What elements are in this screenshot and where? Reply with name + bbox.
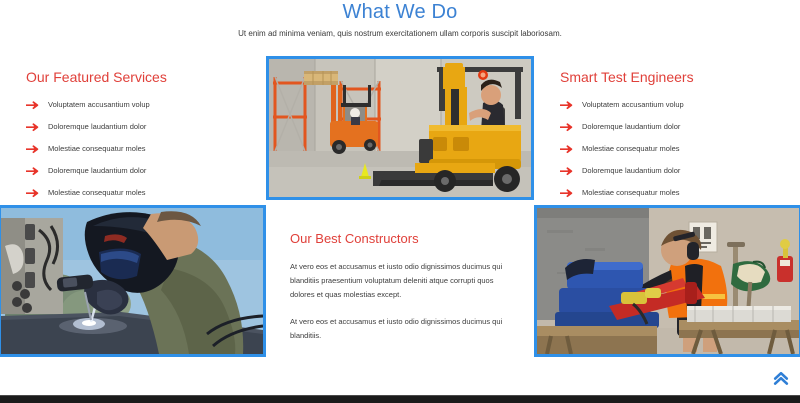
arrow-right-icon	[26, 188, 40, 198]
list-item-label: Molestiae consequatur moles	[48, 144, 146, 153]
list-item-label: Molestiae consequatur moles	[582, 144, 680, 153]
page-root: What We Do Ut enim ad minima veniam, qui…	[0, 0, 800, 403]
footer-bar	[0, 395, 800, 403]
list-item-label: Doloremque laudantium dolor	[582, 166, 680, 175]
list-item[interactable]: Molestiae consequatur moles	[26, 144, 268, 154]
best-constructors-block: Our Best Constructors At vero eos et acc…	[290, 230, 510, 356]
workshop-scene-illustration	[537, 208, 799, 354]
list-item[interactable]: Doloremque laudantium dolor	[26, 122, 268, 132]
list-item-label: Doloremque laudantium dolor	[48, 122, 146, 131]
photo-forklift[interactable]	[266, 56, 534, 200]
best-constructors-heading: Our Best Constructors	[290, 230, 510, 247]
photo-workshop[interactable]	[534, 205, 800, 357]
best-constructors-paragraph-2: At vero eos et accusamus et iusto odio d…	[290, 315, 510, 343]
forklift-scene-illustration	[269, 59, 531, 197]
list-item[interactable]: Doloremque laudantium dolor	[26, 166, 268, 176]
featured-services-column: Our Featured Services Voluptatem accusan…	[18, 68, 268, 210]
double-chevron-up-icon	[773, 371, 789, 391]
arrow-right-icon	[26, 100, 40, 110]
arrow-right-icon	[560, 100, 574, 110]
arrow-right-icon	[560, 144, 574, 154]
list-item[interactable]: Molestiae consequatur moles	[26, 188, 268, 198]
list-item-label: Doloremque laudantium dolor	[48, 166, 146, 175]
list-item-label: Voluptatem accusantium volup	[48, 100, 150, 109]
page-subtitle: Ut enim ad minima veniam, quis nostrum e…	[0, 28, 800, 40]
list-item-label: Molestiae consequatur moles	[582, 188, 680, 197]
scroll-to-top-button[interactable]	[770, 371, 792, 391]
page-title: What We Do	[0, 0, 800, 24]
smart-test-engineers-list: Voluptatem accusantium volup Doloremque …	[552, 100, 800, 198]
featured-services-list: Voluptatem accusantium volup Doloremque …	[18, 100, 268, 198]
arrow-right-icon	[26, 122, 40, 132]
photo-welder[interactable]	[0, 205, 266, 357]
arrow-right-icon	[26, 166, 40, 176]
smart-test-engineers-heading: Smart Test Engineers	[560, 68, 800, 86]
arrow-right-icon	[26, 144, 40, 154]
list-item[interactable]: Voluptatem accusantium volup	[26, 100, 268, 110]
arrow-right-icon	[560, 122, 574, 132]
smart-test-engineers-column: Smart Test Engineers Voluptatem accusant…	[552, 68, 800, 210]
list-item-label: Doloremque laudantium dolor	[582, 122, 680, 131]
arrow-right-icon	[560, 166, 574, 176]
list-item[interactable]: Doloremque laudantium dolor	[560, 166, 800, 176]
list-item[interactable]: Doloremque laudantium dolor	[560, 122, 800, 132]
list-item-label: Molestiae consequatur moles	[48, 188, 146, 197]
welder-scene-illustration	[1, 208, 263, 354]
best-constructors-paragraph-1: At vero eos et accusamus et iusto odio d…	[290, 260, 510, 302]
list-item-label: Voluptatem accusantium volup	[582, 100, 684, 109]
list-item[interactable]: Molestiae consequatur moles	[560, 144, 800, 154]
list-item[interactable]: Voluptatem accusantium volup	[560, 100, 800, 110]
list-item[interactable]: Molestiae consequatur moles	[560, 188, 800, 198]
arrow-right-icon	[560, 188, 574, 198]
featured-services-heading: Our Featured Services	[26, 68, 268, 86]
